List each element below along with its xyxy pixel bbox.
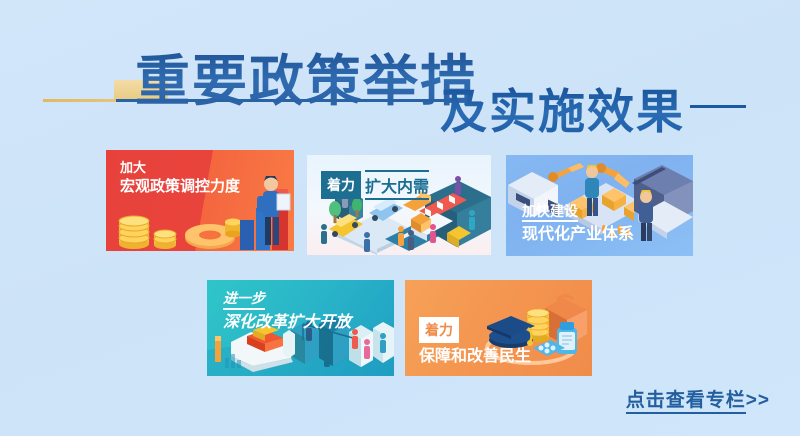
view-column-link-suffix: >> (746, 390, 770, 411)
card3-line1: 加快建设 (522, 203, 578, 222)
card4-line1: 进一步 (223, 290, 265, 310)
policy-card-expand-demand[interactable]: 着力扩大内需 (307, 155, 491, 255)
card5-label: 着力 保障和改善民生 (419, 317, 531, 366)
policy-card-reform-opening[interactable]: 进一步 深化改革扩大开放 (207, 280, 394, 376)
card5-line2: 保障和改善民生 (419, 348, 531, 366)
person-figure-icon (252, 174, 292, 251)
card2-label: 着力扩大内需 (321, 170, 429, 200)
page-header: 重要政策举措 及实施效果 (0, 0, 800, 140)
coins-icon (112, 202, 182, 250)
card2-line2: 扩大内需 (365, 170, 429, 200)
policy-card-macro-control[interactable]: 加大 宏观政策调控力度 (106, 150, 294, 251)
card5-line1: 着力 (419, 317, 459, 343)
page-title-sub: 及实施效果 (440, 73, 685, 142)
card4-line2: 深化改革扩大开放 (223, 314, 351, 332)
card2-line1: 着力 (321, 171, 361, 199)
card1-line2: 宏观政策调控力度 (120, 178, 240, 195)
card3-line2: 现代化产业体系 (522, 226, 634, 244)
card4-label: 进一步 深化改革扩大开放 (223, 290, 351, 332)
card1-label: 加大 宏观政策调控力度 (120, 161, 240, 195)
policy-card-peoples-livelihood[interactable]: 着力 保障和改善民生 (405, 280, 592, 376)
view-column-link[interactable]: 点击查看专栏>> (626, 385, 770, 412)
view-column-link-label: 点击查看专栏 (626, 390, 746, 414)
card3-label: 加快建设 现代化产业体系 (522, 203, 634, 244)
worker-figure-right (639, 190, 653, 241)
page-title-main: 重要政策举措 (135, 36, 477, 116)
policy-card-modern-industry[interactable]: 加快建设 现代化产业体系 (506, 155, 693, 256)
card1-line1: 加大 (120, 161, 240, 176)
title-underline-main (116, 99, 452, 102)
title-rule-right (690, 105, 746, 108)
page-root: 重要政策举措 及实施效果 (0, 0, 800, 436)
